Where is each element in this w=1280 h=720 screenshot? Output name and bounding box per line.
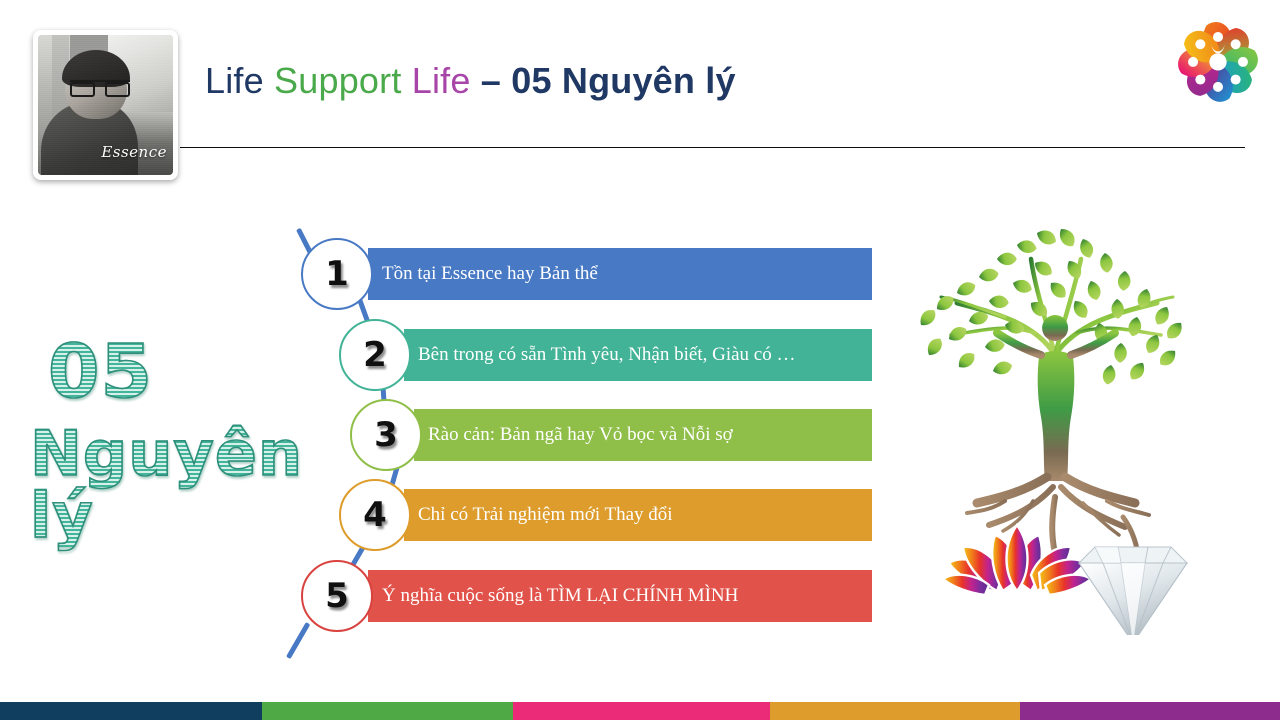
timeline-node-1-number: 1 [325, 254, 349, 294]
title-dash: – [481, 60, 501, 101]
timeline-node-5-number: 5 [325, 576, 349, 616]
timeline-node-2[interactable]: 2 [339, 319, 411, 391]
timeline-node-3-number: 3 [374, 415, 398, 455]
timeline-node-4-number: 4 [363, 495, 387, 535]
timeline-bar-2[interactable]: Bên trong có sẵn Tình yêu, Nhận biết, Gi… [404, 329, 872, 381]
timeline-bar-4-label: Chỉ có Trải nghiệm mới Thay đổi [418, 504, 673, 526]
timeline-bar-2-label: Bên trong có sẵn Tình yêu, Nhận biết, Gi… [418, 344, 795, 366]
header-divider [180, 147, 1245, 148]
wordart-line-nguyen-ly: Nguyên lý [30, 423, 360, 547]
slide-canvas: Essence Life Support Life – 05 Nguyên lý [0, 0, 1280, 720]
footer-segment-orange [770, 702, 1020, 720]
timeline-node-1[interactable]: 1 [301, 238, 373, 310]
timeline-bar-3-label: Rào cản: Bản ngã hay Vỏ bọc và Nỗi sợ [428, 424, 733, 446]
title-word-life-1: Life [205, 60, 264, 101]
timeline-bar-1[interactable]: Tồn tại Essence hay Bản thể [368, 248, 872, 300]
footer-color-bar [0, 702, 1280, 720]
timeline-bar-5-label: Ý nghĩa cuộc sống là TÌM LẠI CHÍNH MÌNH [382, 585, 738, 607]
wordart-05-nguyen-ly: 05 Nguyên lý [30, 335, 360, 547]
tree-of-life-illustration [885, 205, 1225, 635]
title-word-05-nguyen-ly: 05 Nguyên lý [511, 60, 735, 101]
connector-end [286, 622, 310, 659]
portrait-photo: Essence [38, 35, 173, 175]
timeline-node-3[interactable]: 3 [350, 399, 422, 471]
wordart-line-05: 05 [48, 335, 360, 409]
footer-segment-navy [0, 702, 262, 720]
rainbow-lotus [943, 525, 1091, 595]
timeline-node-5[interactable]: 5 [301, 560, 373, 632]
footer-segment-pink [513, 702, 770, 720]
timeline-node-4[interactable]: 4 [339, 479, 411, 551]
human-figure-trunk [997, 315, 1115, 481]
timeline-bar-5[interactable]: Ý nghĩa cuộc sống là TÌM LẠI CHÍNH MÌNH [368, 570, 872, 622]
timeline-bar-1-label: Tồn tại Essence hay Bản thể [382, 263, 598, 285]
footer-segment-purple [1020, 702, 1280, 720]
title-word-life-2: Life [412, 60, 471, 101]
portrait-signature: Essence [101, 143, 167, 161]
diamond [1077, 547, 1189, 635]
footer-segment-green [262, 702, 513, 720]
page-title: Life Support Life – 05 Nguyên lý [205, 58, 736, 104]
portrait-card: Essence [33, 30, 178, 180]
title-word-support: Support [274, 60, 402, 101]
lotus-people-logo-icon [1170, 12, 1266, 108]
timeline-bar-3[interactable]: Rào cản: Bản ngã hay Vỏ bọc và Nỗi sợ [414, 409, 872, 461]
timeline-node-2-number: 2 [363, 335, 387, 375]
timeline-bar-4[interactable]: Chỉ có Trải nghiệm mới Thay đổi [404, 489, 872, 541]
